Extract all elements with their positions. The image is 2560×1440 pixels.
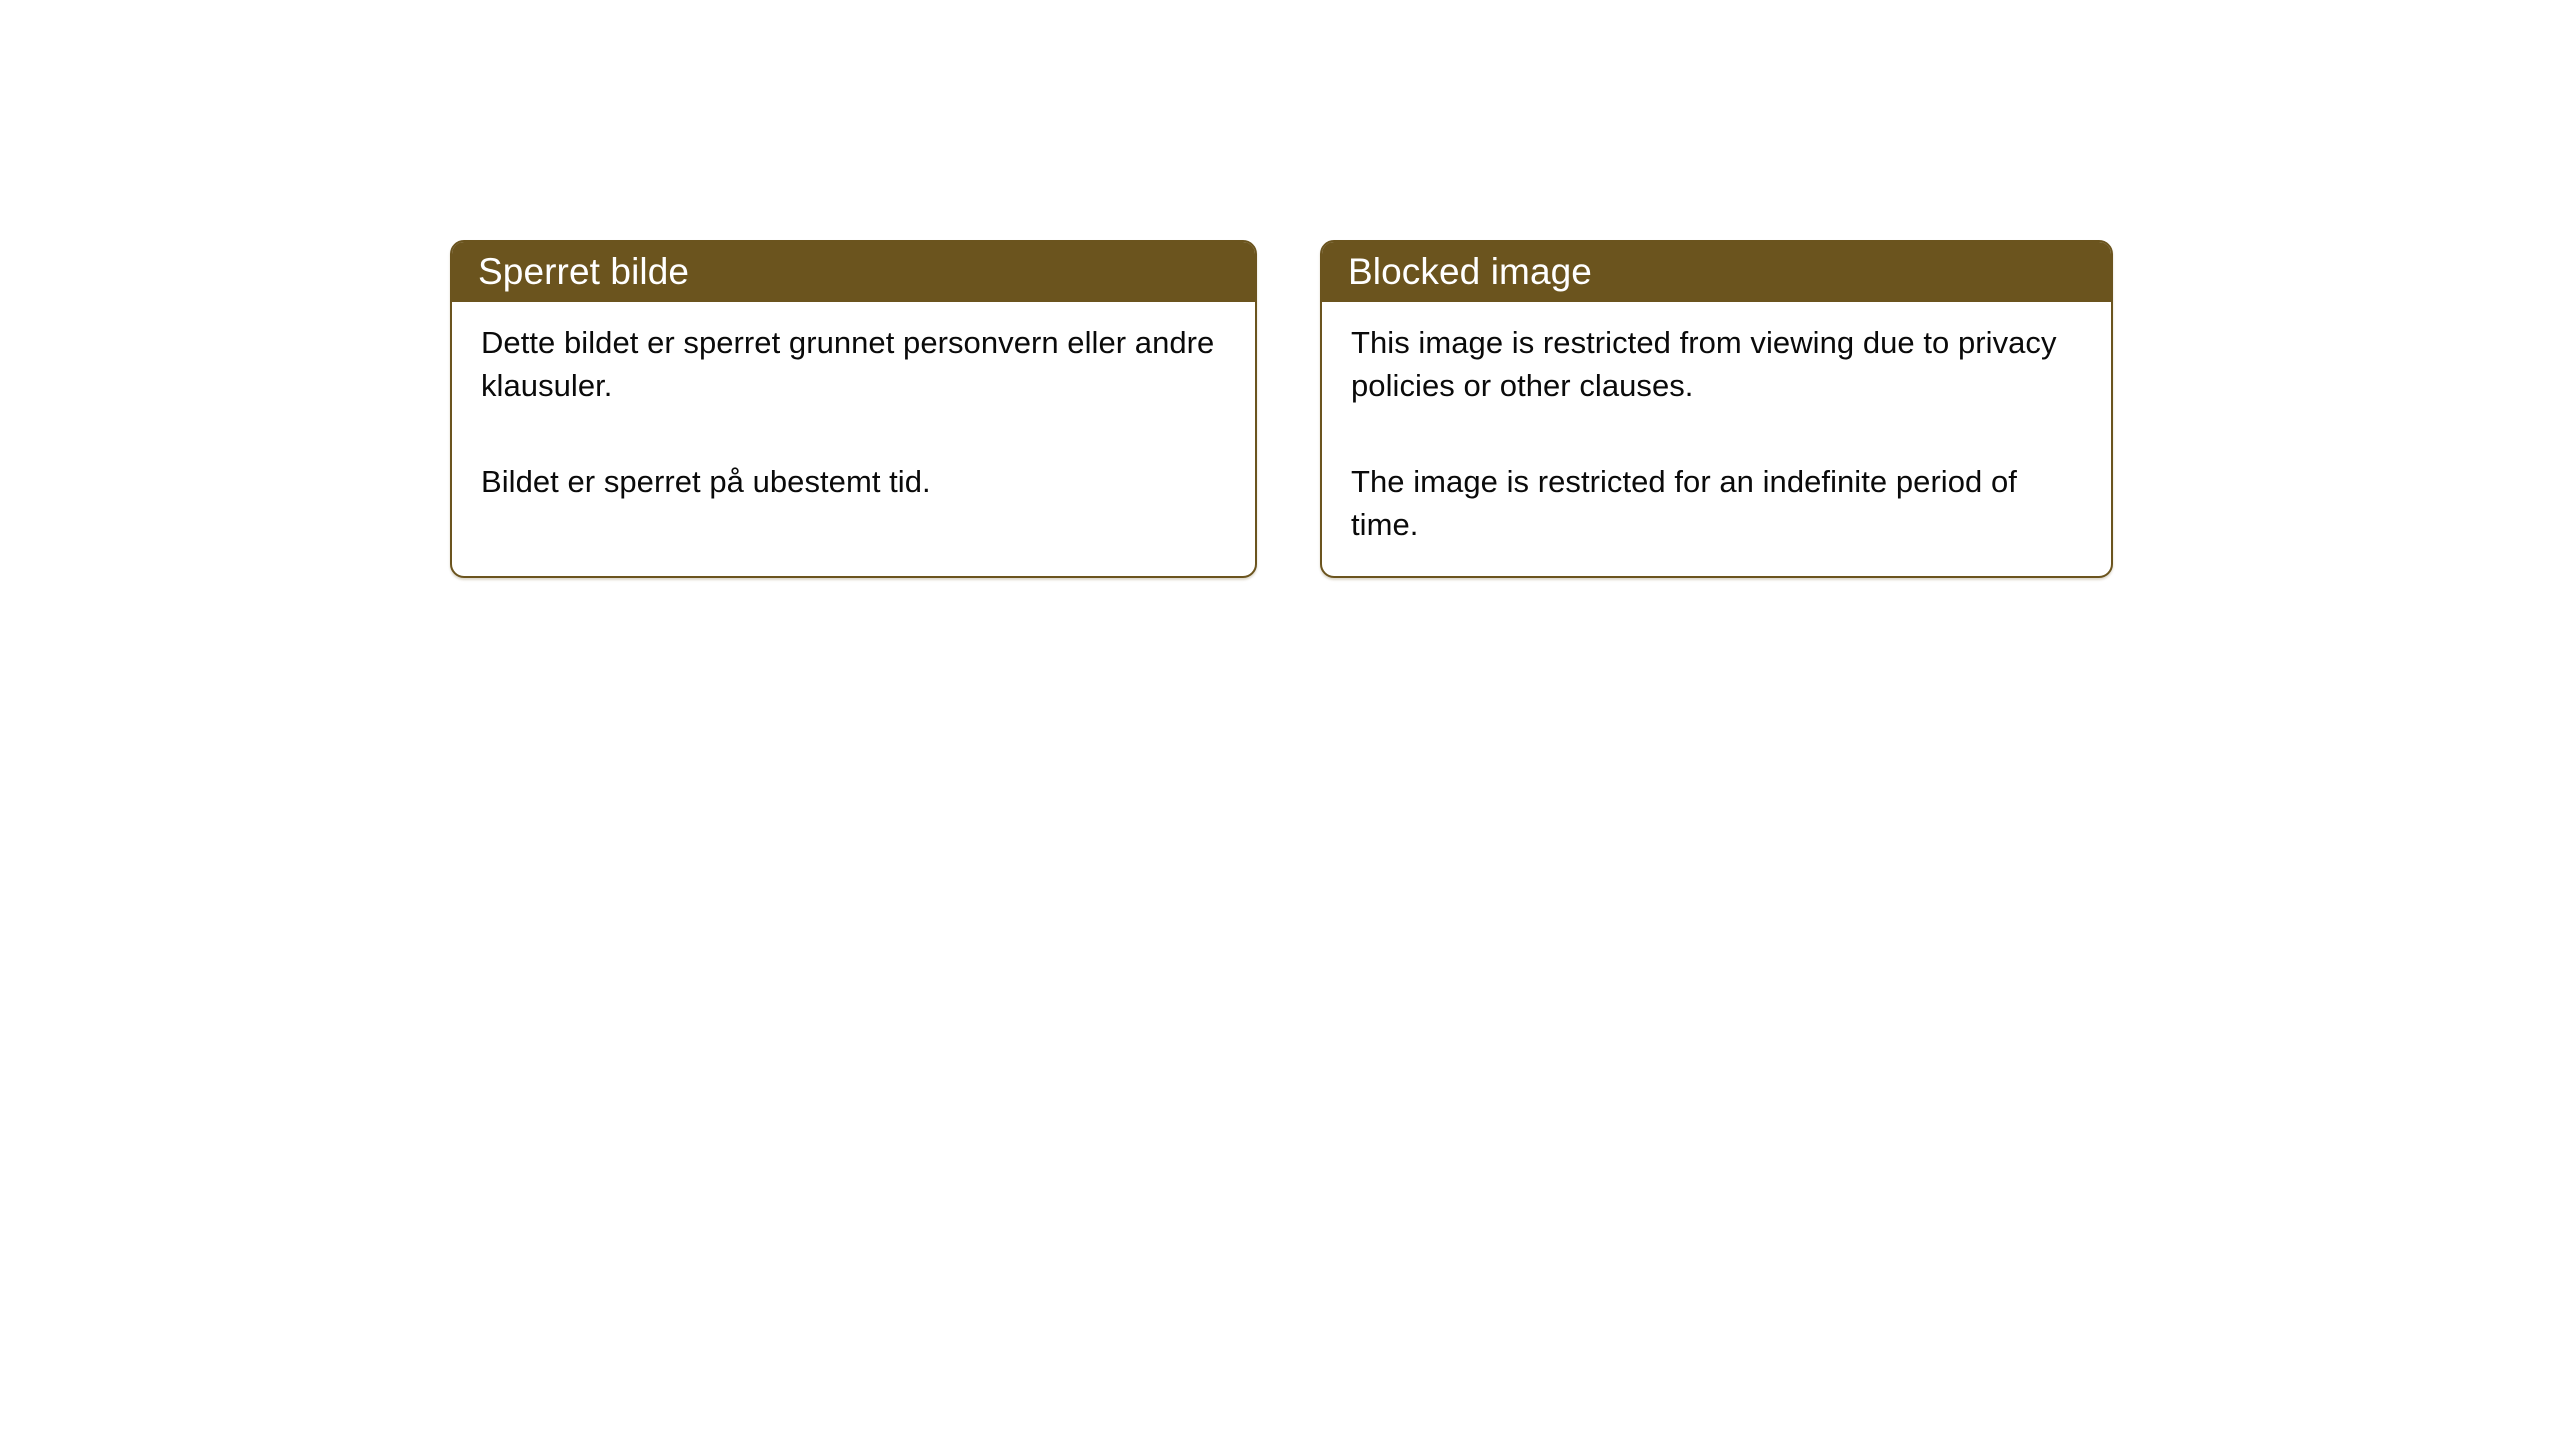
card-paragraph-duration-english: The image is restricted for an indefinit… (1351, 460, 2085, 546)
blocked-image-card-english: Blocked image This image is restricted f… (1320, 240, 2113, 578)
card-body-norwegian: Dette bildet er sperret grunnet personve… (452, 302, 1255, 503)
page-root: Sperret bilde Dette bildet er sperret gr… (0, 0, 2560, 1440)
card-body-english: This image is restricted from viewing du… (1322, 302, 2111, 546)
card-header-english: Blocked image (1321, 241, 2112, 302)
card-paragraph-reason-english: This image is restricted from viewing du… (1351, 321, 2085, 407)
card-header-norwegian: Sperret bilde (451, 241, 1256, 302)
blocked-image-notice-group: Sperret bilde Dette bildet er sperret gr… (450, 240, 2113, 578)
card-paragraph-duration-norwegian: Bildet er sperret på ubestemt tid. (481, 460, 1229, 503)
blocked-image-card-norwegian: Sperret bilde Dette bildet er sperret gr… (450, 240, 1257, 578)
card-title-norwegian: Sperret bilde (478, 252, 689, 292)
card-paragraph-reason-norwegian: Dette bildet er sperret grunnet personve… (481, 321, 1229, 407)
card-title-english: Blocked image (1348, 252, 1592, 292)
